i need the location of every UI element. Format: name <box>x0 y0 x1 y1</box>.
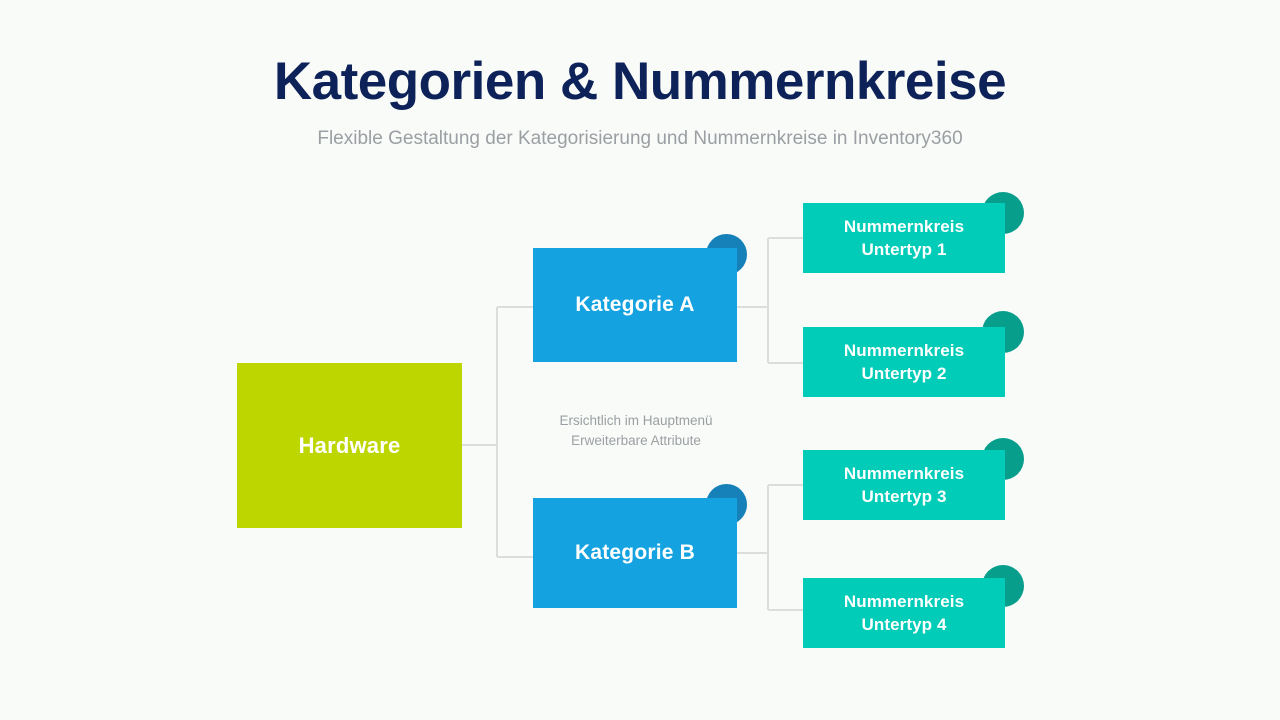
center-annotation-line-2: Erweiterbare Attribute <box>505 431 767 451</box>
node-untertyp-2[interactable]: NummernkreisUntertyp 2 <box>803 327 1005 397</box>
node-untertyp-1-label: NummernkreisUntertyp 1 <box>830 215 978 262</box>
node-kategorie-a[interactable]: Kategorie A <box>533 248 737 362</box>
node-untertyp-1[interactable]: NummernkreisUntertyp 1 <box>803 203 1005 273</box>
hierarchy-diagram: Hardware Kategorie A Kategorie B Nummern… <box>0 0 1280 720</box>
node-untertyp-4[interactable]: NummernkreisUntertyp 4 <box>803 578 1005 648</box>
center-annotation-line-1: Ersichtlich im Hauptmenü <box>505 411 767 431</box>
node-kategorie-b[interactable]: Kategorie B <box>533 498 737 608</box>
node-untertyp-3-label: NummernkreisUntertyp 3 <box>830 462 978 509</box>
node-hardware[interactable]: Hardware <box>237 363 462 528</box>
node-kategorie-b-label: Kategorie B <box>561 541 709 565</box>
center-annotation: Ersichtlich im Hauptmenü Erweiterbare At… <box>505 411 767 451</box>
slide-canvas: Kategorien & Nummernkreise Flexible Gest… <box>0 0 1280 720</box>
node-kategorie-a-label: Kategorie A <box>561 293 708 317</box>
node-untertyp-2-label: NummernkreisUntertyp 2 <box>830 339 978 386</box>
node-untertyp-3[interactable]: NummernkreisUntertyp 3 <box>803 450 1005 520</box>
node-hardware-label: Hardware <box>285 433 415 459</box>
node-untertyp-4-label: NummernkreisUntertyp 4 <box>830 590 978 637</box>
